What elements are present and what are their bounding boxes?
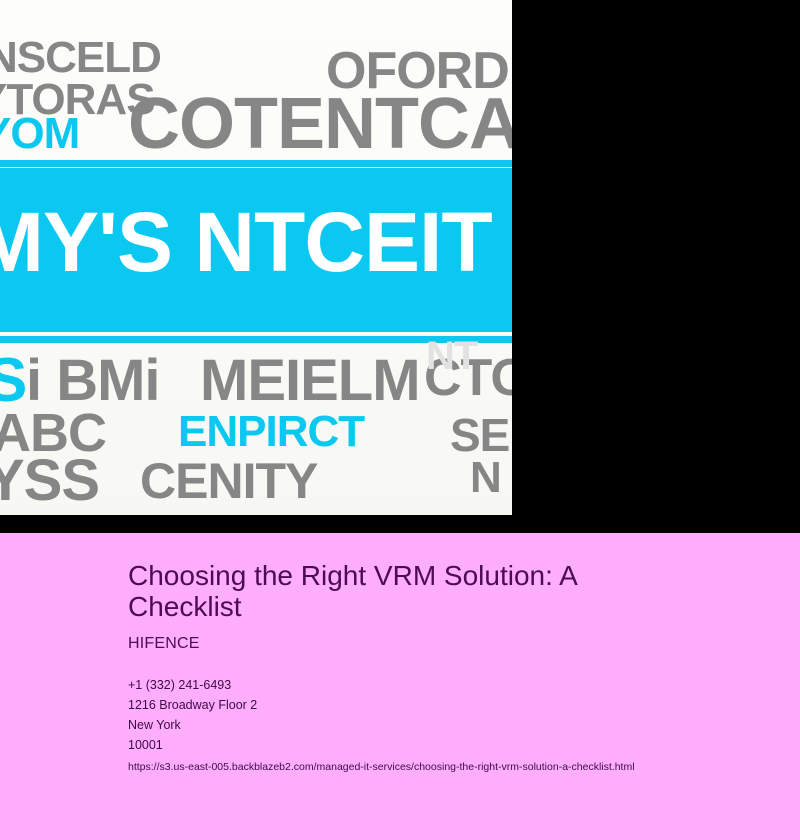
word-cloud-term: i BMi — [26, 352, 160, 410]
article-info-inner: Choosing the Right VRM Solution: A Check… — [128, 560, 728, 775]
word-cloud-term: COTENTCA — [128, 88, 512, 160]
contact-city: New York — [128, 715, 728, 735]
source-url[interactable]: https://s3.us-east-005.backblazeb2.com/m… — [128, 759, 728, 775]
hero-media-band: NSCELDYTORASYOMOFORDCOTENTCAMY'S NTCEITS… — [0, 0, 800, 533]
word-cloud-term: NT — [426, 336, 477, 376]
word-cloud-image: NSCELDYTORASYOMOFORDCOTENTCAMY'S NTCEITS… — [0, 0, 512, 515]
page-title: Choosing the Right VRM Solution: A Check… — [128, 560, 668, 623]
word-cloud-term: YOM — [0, 112, 79, 156]
word-cloud-term: MY'S NTCEIT — [0, 200, 492, 284]
word-cloud-term: CENITY — [140, 456, 317, 506]
word-cloud-term: MEIELM — [200, 352, 420, 410]
contact-postal-code: 10001 — [128, 735, 728, 755]
word-cloud-term: YSS — [0, 452, 99, 510]
contact-phone[interactable]: +1 (332) 241-6493 — [128, 675, 728, 695]
article-info-panel: Choosing the Right VRM Solution: A Check… — [0, 533, 800, 840]
word-cloud-term: SE — [450, 412, 509, 458]
brand-name: HIFENCE — [128, 635, 728, 653]
word-cloud-term: NSCELD — [0, 36, 161, 80]
contact-street: 1216 Broadway Floor 2 — [128, 695, 728, 715]
word-cloud-term: ENPIRCT — [178, 410, 364, 454]
contact-block: +1 (332) 241-6493 1216 Broadway Floor 2 … — [128, 675, 728, 775]
word-cloud-term: N — [470, 456, 501, 500]
